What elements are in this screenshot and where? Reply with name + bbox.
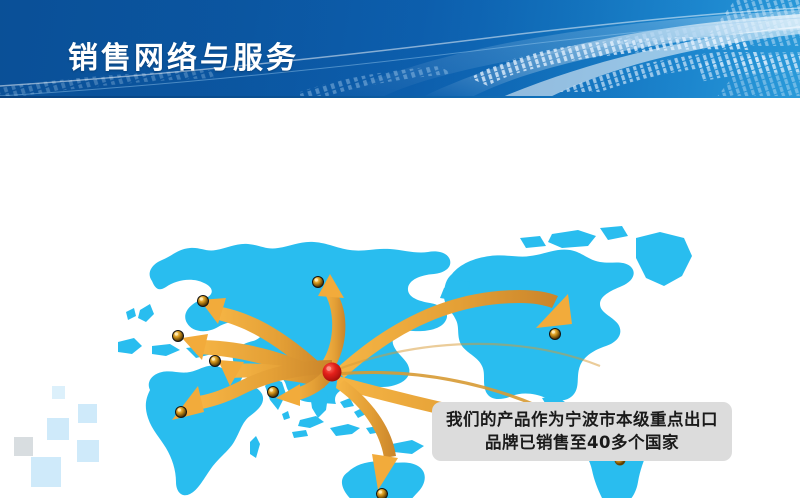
deco-square [47,418,69,440]
page-title: 销售网络与服务 [68,33,299,77]
caption-box: 我们的产品作为宁波市本级重点出口品牌已销售至40多个国家 [432,402,732,461]
deco-square [77,440,99,462]
deco-square [78,404,97,423]
marker-north-africa[interactable] [175,406,187,418]
marker-western-europe[interactable] [172,330,184,342]
deco-square [52,386,65,399]
marker-russia-siberia[interactable] [312,276,324,288]
marker-northern-europe[interactable] [197,295,209,307]
slide-root: 销售网络与服务 [0,0,800,498]
header-banner: 销售网络与服务 [0,0,800,98]
origin-marker-china[interactable] [323,363,342,382]
marker-south-asia[interactable] [267,386,279,398]
marker-north-america[interactable] [549,328,561,340]
deco-square [31,457,61,487]
deco-square [14,437,33,456]
marker-middle-east[interactable] [209,355,221,367]
